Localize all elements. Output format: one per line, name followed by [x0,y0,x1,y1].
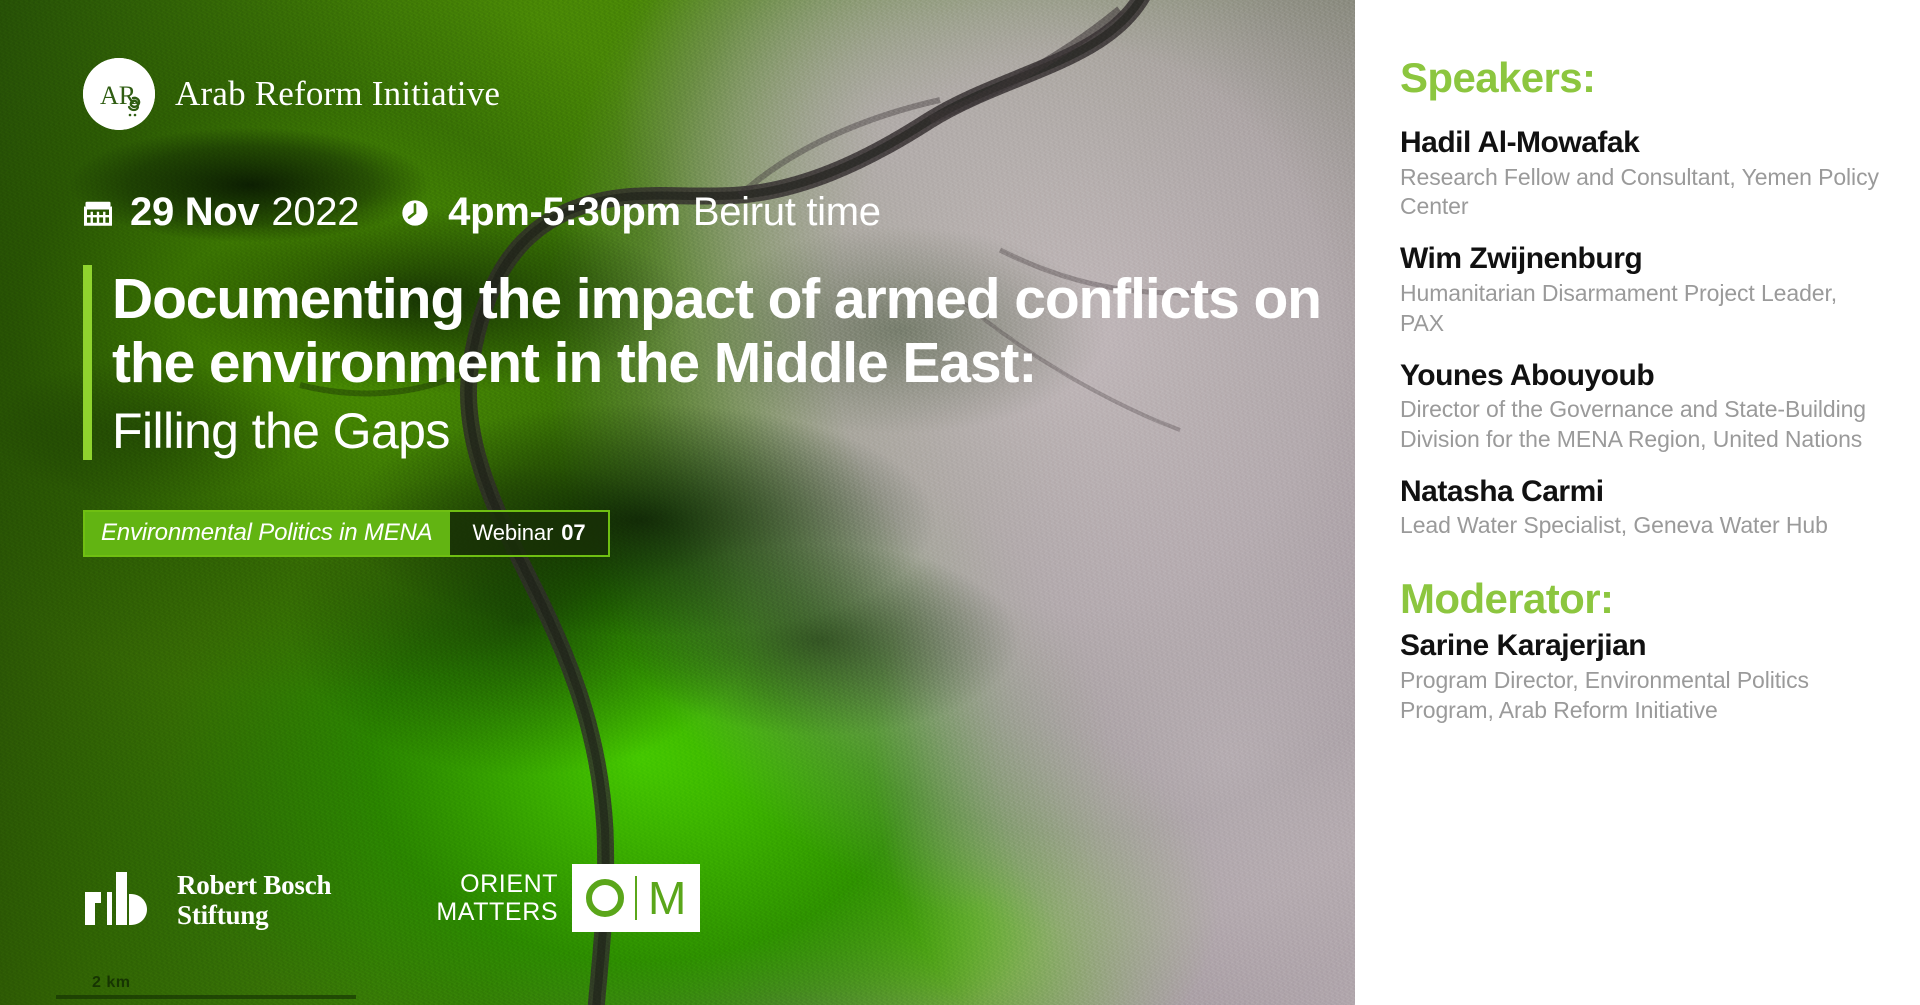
calendar-icon [83,198,113,228]
robert-bosch-stiftung-mark-icon [83,870,161,932]
event-year: 2022 [271,190,359,235]
series-name: Environmental Politics in MENA [85,512,450,555]
speaker-role: Director of the Governance and State-Bui… [1400,395,1884,455]
brand-name: Arab Reform Initiative [175,74,500,114]
hero-satellite-image: 2 km AR Arab Reform Initiative [0,0,1355,1005]
orient-matters-wordmark: ORIENT MATTERS [436,870,558,926]
speaker-name: Natasha Carmi [1400,475,1884,510]
partner-line-1: Robert Bosch [177,870,331,900]
hero-content: AR Arab Reform Initiative [0,0,1355,1005]
webinar-label: Webinar [472,520,553,546]
brand-lockup: AR Arab Reform Initiative [83,58,1355,130]
arab-reform-initiative-logo-icon: AR [83,58,155,130]
orient-matters-logo: ORIENT MATTERS M [436,864,700,932]
partner-line-2: Stiftung [177,900,331,930]
moderator-heading: Moderator: [1400,577,1884,621]
event-title: Documenting the impact of armed conflict… [112,267,1355,396]
speaker-name: Hadil Al-Mowafak [1400,126,1884,161]
speaker-item: Younes Abouyoub Director of the Governan… [1400,359,1884,455]
event-title-wrap: Documenting the impact of armed conflict… [83,265,1355,460]
orient-matters-o-glyph [586,879,624,917]
partner-logos: Robert Bosch Stiftung ORIENT MATTERS M [83,864,700,932]
event-meta: 29 Nov 2022 4pm-5:30pm Beirut time [83,190,1355,235]
speaker-name: Wim Zwijnenburg [1400,242,1884,277]
moderator-role: Program Director, Environmental Politics… [1400,666,1884,726]
speaker-role: Research Fellow and Consultant, Yemen Po… [1400,163,1884,223]
event-time: 4pm-5:30pm [448,190,681,235]
speaker-name: Younes Abouyoub [1400,359,1884,394]
speakers-panel: Speakers: Hadil Al-Mowafak Research Fell… [1355,0,1920,1005]
robert-bosch-stiftung-wordmark: Robert Bosch Stiftung [177,870,331,932]
partner-line-1: ORIENT [436,870,558,898]
event-subtitle: Filling the Gaps [112,402,1355,460]
speaker-item: Wim Zwijnenburg Humanitarian Disarmament… [1400,242,1884,338]
robert-bosch-stiftung-logo: Robert Bosch Stiftung [83,870,331,932]
partner-line-2: MATTERS [436,898,558,926]
event-date: 29 Nov [130,190,259,235]
webinar-number: 07 [561,520,585,546]
webinar-number-group: Webinar 07 [450,512,607,555]
speaker-role: Lead Water Specialist, Geneva Water Hub [1400,511,1884,541]
webinar-announcement-poster: 2 km AR Arab Reform Initiative [0,0,1920,1005]
speaker-item: Hadil Al-Mowafak Research Fellow and Con… [1400,126,1884,222]
speakers-heading: Speakers: [1400,56,1884,100]
moderator-item: Sarine Karajerjian Program Director, Env… [1400,629,1884,725]
orient-matters-m-glyph: M [648,875,686,921]
series-badge: Environmental Politics in MENA Webinar 0… [83,510,610,557]
speaker-role: Humanitarian Disarmament Project Leader,… [1400,279,1884,339]
clock-icon [399,197,431,229]
title-accent-bar [83,265,92,460]
orient-matters-mark-icon: M [572,864,700,932]
event-timezone: Beirut time [693,190,881,235]
orient-matters-divider [635,876,637,920]
moderator-name: Sarine Karajerjian [1400,629,1884,664]
speaker-item: Natasha Carmi Lead Water Specialist, Gen… [1400,475,1884,541]
